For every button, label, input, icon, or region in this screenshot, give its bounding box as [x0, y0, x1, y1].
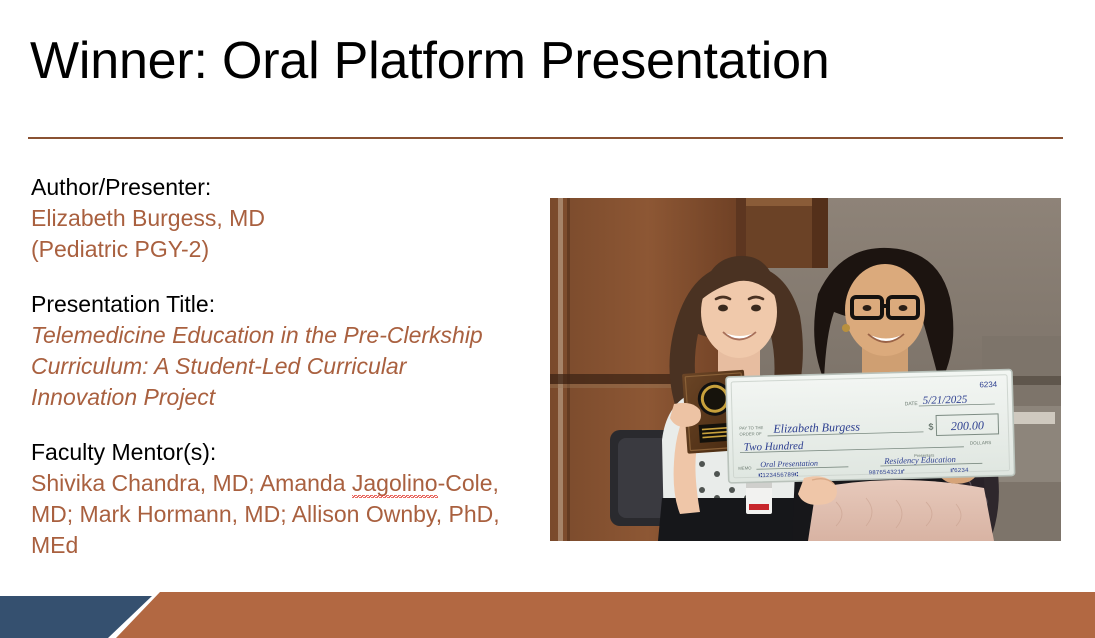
svg-text:DOLLARS: DOLLARS [970, 440, 992, 446]
mentors-text-segment-1: Shivika Chandra, MD; Amanda [31, 470, 352, 496]
svg-text:DATE: DATE [905, 401, 919, 407]
mentors-list: Shivika Chandra, MD; Amanda Jagolino-Col… [31, 468, 536, 561]
page-title: Winner: Oral Platform Presentation [30, 30, 1060, 92]
author-block: Author/Presenter: Elizabeth Burgess, MD … [31, 172, 536, 265]
svg-text:6234: 6234 [979, 380, 998, 389]
slide-body-text: Author/Presenter: Elizabeth Burgess, MD … [31, 172, 536, 561]
presentation-block: Presentation Title: Telemedicine Educati… [31, 289, 536, 413]
mentors-label: Faculty Mentor(s): [31, 437, 536, 468]
author-name: Elizabeth Burgess, MD [31, 203, 536, 234]
slide-canvas: Winner: Oral Platform Presentation Autho… [0, 0, 1095, 638]
svg-text:MEMO: MEMO [738, 465, 752, 470]
bottom-decorative-bar [0, 578, 1095, 638]
svg-text:⑆123456789⑆: ⑆123456789⑆ [759, 471, 799, 479]
presentation-title-line-3: Innovation Project [31, 382, 536, 413]
mentors-block: Faculty Mentor(s): Shivika Chandra, MD; … [31, 437, 536, 561]
svg-text:Two Hundred: Two Hundred [744, 440, 804, 454]
svg-text:ORDER OF: ORDER OF [739, 431, 762, 437]
svg-text:Residency Education: Residency Education [883, 454, 956, 466]
spellcheck-misspelled-word: Jagolino [352, 468, 438, 499]
presentation-title-line-1: Telemedicine Education in the Pre-Clerks… [31, 320, 536, 351]
title-divider-rule [28, 137, 1063, 139]
svg-text:200.00: 200.00 [951, 418, 984, 433]
bar-rust-shape [116, 592, 1095, 638]
author-label: Author/Presenter: [31, 172, 536, 203]
svg-text:$: $ [928, 422, 933, 432]
svg-text:PAY TO THE: PAY TO THE [739, 425, 763, 431]
svg-text:5/21/2025: 5/21/2025 [923, 394, 968, 407]
svg-text:987654321⑈: 987654321⑈ [868, 468, 905, 476]
presentation-title-line-2: Curriculum: A Student-Led Curricular [31, 351, 536, 382]
award-photo: 6234 DATE 5/21/2025 PAY TO THE ORDER OF … [550, 198, 1061, 541]
author-affiliation: (Pediatric PGY-2) [31, 234, 536, 265]
svg-text:⑈6234: ⑈6234 [950, 467, 969, 474]
svg-text:Oral Presentation: Oral Presentation [760, 459, 818, 470]
presentation-title-label: Presentation Title: [31, 289, 536, 320]
svg-text:Elizabeth Burgess: Elizabeth Burgess [772, 420, 860, 436]
